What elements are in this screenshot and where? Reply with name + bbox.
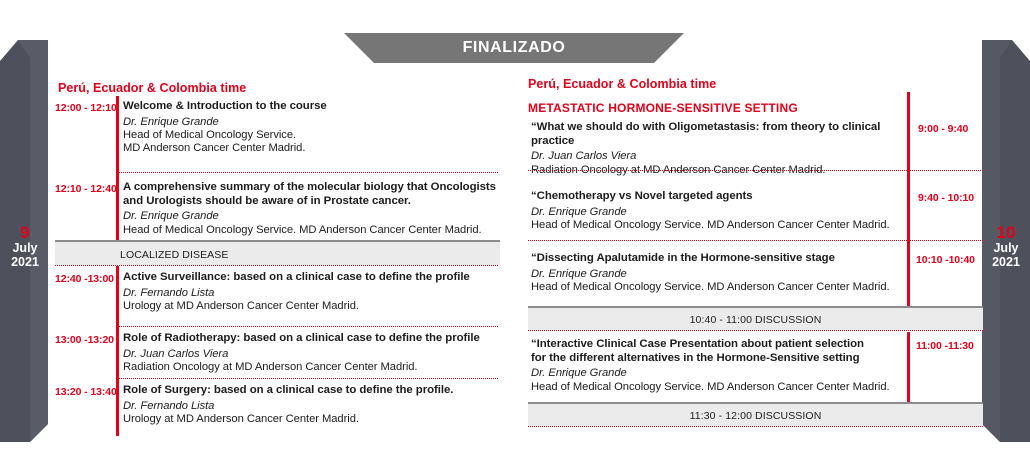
session-time: 9:40 - 10:10 [918, 192, 974, 204]
date-ribbon-right: 10 July 2021 [970, 0, 1030, 450]
right-timezone-heading: Perú, Ecuador & Colombia time [528, 77, 716, 91]
section-band-label: LOCALIZED DISEASE [120, 249, 228, 261]
session-title-2: and Urologists should be aware of in Pro… [123, 195, 501, 209]
session-speaker: Dr. Enrique Grande [123, 210, 501, 223]
session-body: A comprehensive summary of the molecular… [123, 181, 501, 237]
session-affiliation: Radiation Oncology at MD Anderson Cancer… [123, 361, 501, 374]
session-body: Welcome & Introduction to the course Dr.… [123, 100, 498, 156]
date-right-month: July [976, 242, 1030, 256]
session-speaker: Dr. Enrique Grande [531, 367, 901, 380]
session-body: “Interactive Clinical Case Presentation … [531, 338, 901, 394]
session-affiliation: Urology at MD Anderson Cancer Center Mad… [123, 413, 501, 426]
date-right-year: 2021 [976, 256, 1030, 270]
date-right-day: 10 [976, 224, 1030, 242]
session-body: Active Surveillance: based on a clinical… [123, 271, 501, 313]
left-timezone-heading: Perú, Ecuador & Colombia time [58, 81, 246, 95]
date-left-day: 9 [0, 224, 55, 242]
session-affiliation: Head of Medical Oncology Service. MD And… [531, 281, 901, 294]
session-title: “Interactive Clinical Case Presentation … [531, 338, 901, 352]
session-body: “Chemotherapy vs Novel targeted agents D… [531, 190, 901, 232]
session-time: 9:00 - 9:40 [918, 123, 968, 135]
band-divider [528, 426, 983, 427]
session-body: Role of Surgery: based on a clinical cas… [123, 384, 501, 426]
session-speaker: Dr. Enrique Grande [123, 116, 498, 129]
session-body: “What we should do with Oligometastasis:… [531, 121, 901, 177]
session-time: 12:10 - 12:40 [55, 183, 117, 195]
session-divider [118, 172, 498, 173]
band-divider [528, 330, 983, 331]
session-affiliation: Head of Medical Oncology Service. MD And… [531, 219, 901, 232]
session-affiliation: Urology at MD Anderson Cancer Center Mad… [123, 300, 501, 313]
session-divider [118, 378, 498, 379]
session-title-2: for the different alternatives in the Ho… [531, 352, 901, 366]
date-right: 10 July 2021 [976, 224, 1030, 269]
session-speaker: Dr. Juan Carlos Viera [531, 150, 901, 163]
session-time: 13:20 - 13:40 [55, 386, 117, 398]
session-affiliation: Head of Medical Oncology Service. MD And… [123, 224, 501, 237]
discussion-band: 10:40 - 11:00 DISCUSSION [528, 306, 983, 330]
session-title: “Chemotherapy vs Novel targeted agents [531, 190, 901, 204]
discussion-band-label: 10:40 - 11:00 DISCUSSION [528, 314, 983, 326]
session-body: Role of Radiotherapy: based on a clinica… [123, 332, 501, 374]
session-speaker: Dr. Enrique Grande [531, 268, 901, 281]
discussion-band-label: 11:30 - 12:00 DISCUSSION [528, 410, 983, 422]
session-time: 12:00 - 12:10 [55, 102, 117, 114]
session-time: 13:00 -13:20 [55, 334, 114, 346]
date-left-month: July [0, 242, 55, 256]
session-affiliation: Head of Medical Oncology Service. [123, 129, 498, 142]
date-ribbon-left: 9 July 2021 [0, 0, 60, 450]
session-title: Role of Surgery: based on a clinical cas… [123, 384, 501, 398]
session-title: “Dissecting Apalutamide in the Hormone-s… [531, 252, 901, 266]
session-speaker: Dr. Fernando Lista [123, 287, 501, 300]
status-banner: FINALIZADO [344, 33, 684, 63]
left-rail-upper [116, 96, 119, 241]
session-body: “Dissecting Apalutamide in the Hormone-s… [531, 252, 901, 294]
session-divider [528, 240, 983, 241]
session-speaker: Dr. Juan Carlos Viera [123, 348, 501, 361]
date-left-year: 2021 [0, 256, 55, 270]
right-section-heading: METASTATIC HORMONE-SENSITIVE SETTING [528, 101, 798, 115]
left-rail-lower [116, 266, 119, 436]
right-rail-upper [907, 92, 910, 314]
band-divider [55, 265, 498, 266]
session-title: A comprehensive summary of the molecular… [123, 181, 501, 195]
session-speaker: Dr. Fernando Lista [123, 400, 501, 413]
session-time: 10:10 -10:40 [916, 254, 975, 266]
session-affiliation-2: MD Anderson Cancer Center Madrid. [123, 142, 498, 155]
session-divider [118, 326, 498, 327]
agenda-canvas: 9 July 2021 10 July 2021 FINALIZADO Perú… [0, 0, 1030, 450]
session-title: Welcome & Introduction to the course [123, 100, 498, 114]
date-left: 9 July 2021 [0, 224, 55, 269]
session-time: 12:40 -13:00 [55, 273, 114, 285]
session-divider [528, 170, 983, 171]
session-time: 11:00 -11:30 [916, 340, 974, 352]
section-band-localized-disease: LOCALIZED DISEASE [55, 240, 500, 265]
session-title: “What we should do with Oligometastasis:… [531, 121, 901, 148]
right-rail-lower [907, 332, 910, 404]
discussion-band: 11:30 - 12:00 DISCUSSION [528, 402, 983, 426]
session-speaker: Dr. Enrique Grande [531, 206, 901, 219]
session-title: Role of Radiotherapy: based on a clinica… [123, 332, 501, 346]
session-title: Active Surveillance: based on a clinical… [123, 271, 501, 285]
status-banner-label: FINALIZADO [344, 33, 684, 63]
session-affiliation: Head of Medical Oncology Service. MD And… [531, 381, 901, 394]
